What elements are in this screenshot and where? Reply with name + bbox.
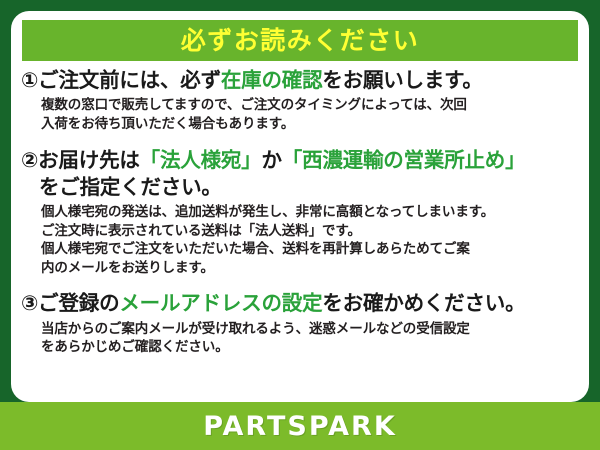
footer-bar: PARTSPARK [0, 402, 600, 450]
notice-item-2: ②お届け先は「法人様宛」か「西濃運輸の営業所止め」をご指定ください。 個人様宅宛… [21, 147, 579, 277]
notice-item-1: ①ご注文前には、必ず在庫の確認をお願いします。 複数の窓口で販売してますので、ご… [21, 67, 579, 133]
item-3-subtext-line-1: 当店からのご案内メールが受け取れるよう、迷惑メールなどの受信設定 [41, 320, 579, 339]
item-3-subtext: 当店からのご案内メールが受け取れるよう、迷惑メールなどの受信設定 をあらかじめご… [21, 320, 579, 357]
item-3-heading-after: をお確かめください。 [322, 291, 525, 315]
item-1-heading-before: ご注文前には、必ず [38, 68, 221, 92]
item-2-number: ② [21, 148, 38, 172]
notice-body: ①ご注文前には、必ず在庫の確認をお願いします。 複数の窓口で販売してますので、ご… [11, 67, 589, 359]
brand-name: PARTSPARK [203, 413, 397, 440]
title-bar: 必ずお読みください [22, 20, 578, 61]
item-1-number: ① [21, 68, 38, 92]
item-3-heading: ③ご登録のメールアドレスの設定をお確かめください。 [21, 290, 579, 316]
notice-banner: 必ずお読みください ①ご注文前には、必ず在庫の確認をお願いします。 複数の窓口で… [0, 0, 600, 450]
item-2-heading: ②お届け先は「法人様宛」か「西濃運輸の営業所止め」をご指定ください。 [21, 147, 579, 199]
item-2-subtext-line-2: ご注文時に表示されている送料は「法人送料」です。 [41, 222, 579, 241]
item-3-heading-before: ご登録の [38, 291, 119, 315]
notice-card: 必ずお読みください ①ご注文前には、必ず在庫の確認をお願いします。 複数の窓口で… [11, 11, 589, 402]
item-1-subtext: 複数の窓口で販売してますので、ご注文のタイミングによっては、次回 入荷をお待ち頂… [21, 96, 579, 133]
item-3-heading-highlight: メールアドレスの設定 [119, 291, 322, 315]
item-2-subtext: 個人様宅宛の発送は、追加送料が発生し、非常に高額となってしまいます。 ご注文時に… [21, 203, 579, 278]
item-2-subtext-line-4: 内のメールをお送りします。 [41, 259, 579, 278]
item-2-heading-highlight-2: 「西濃運輸の営業所止め」 [282, 148, 526, 172]
notice-item-3: ③ご登録のメールアドレスの設定をお確かめください。 当店からのご案内メールが受け… [21, 290, 579, 356]
item-2-heading-before: お届け先は [38, 148, 140, 172]
item-1-heading-highlight: 在庫の確認 [221, 68, 323, 92]
banner-title: 必ずお読みください [181, 28, 420, 53]
item-2-heading-highlight: 「法人様宛」 [140, 148, 262, 172]
item-1-subtext-line-1: 複数の窓口で販売してますので、ご注文のタイミングによっては、次回 [41, 96, 579, 115]
item-3-subtext-line-2: をあらかじめご確認ください。 [41, 338, 579, 357]
item-3-number: ③ [21, 291, 38, 315]
item-1-subtext-line-2: 入荷をお待ち頂いただく場合もあります。 [41, 115, 579, 134]
item-1-heading: ①ご注文前には、必ず在庫の確認をお願いします。 [21, 67, 579, 93]
item-1-heading-after: をお願いします。 [322, 68, 482, 92]
item-2-heading-middle: か [261, 148, 281, 172]
item-2-heading-after: をご指定ください。 [21, 174, 579, 200]
item-2-subtext-line-3: 個人様宅宛でご注文をいただいた場合、送料を再計算しあらためてご案 [41, 240, 579, 259]
item-2-subtext-line-1: 個人様宅宛の発送は、追加送料が発生し、非常に高額となってしまいます。 [41, 203, 579, 222]
